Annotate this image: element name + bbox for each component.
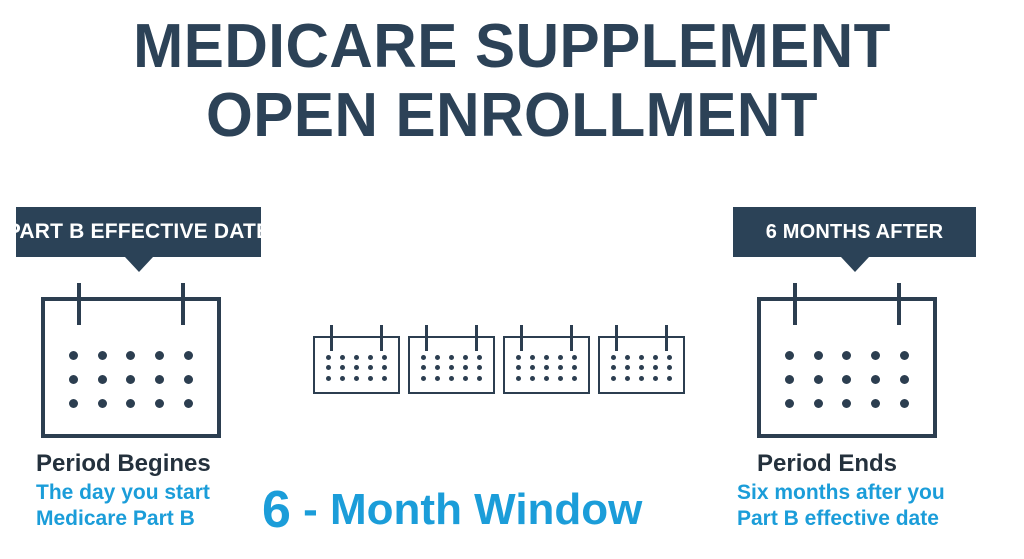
calendar-dot [126, 399, 135, 408]
calendar-dot [477, 355, 482, 360]
calendar-dot [382, 376, 387, 381]
calendar-dot [653, 365, 658, 370]
calendar-dot [639, 365, 644, 370]
banner-left-label: PART B EFFECTIVE DATE [7, 220, 271, 244]
calendar-dot [421, 376, 426, 381]
calendar-dot [340, 365, 345, 370]
calendar-ring-right-icon [897, 283, 901, 325]
calendar-dot [126, 351, 135, 360]
title-line-2: OPEN ENROLLMENT [15, 81, 1008, 150]
calendar-dot [340, 376, 345, 381]
caption-period-ends: Period Ends Six months after you Part B … [737, 450, 1024, 532]
calendar-dot [340, 355, 345, 360]
calendar-dot [516, 355, 521, 360]
calendar-dot [625, 365, 630, 370]
calendar-ring-left-icon [77, 283, 81, 325]
calendar-dot [572, 376, 577, 381]
calendar-icon-period-end [757, 297, 937, 438]
calendar-ring-right-icon [570, 325, 573, 351]
caption-left-heading: Period Begines [36, 450, 336, 478]
calendar-dot [900, 399, 909, 408]
calendar-dot [544, 355, 549, 360]
calendar-dot [368, 365, 373, 370]
banner-right-pointer-icon [841, 257, 869, 272]
calendar-dot [477, 365, 482, 370]
calendar-icon-month-3 [503, 336, 590, 394]
calendar-dot [155, 399, 164, 408]
calendar-dot [98, 375, 107, 384]
center-headline-six-month-window: 6 - Month Window [262, 484, 732, 536]
calendar-dot [842, 399, 851, 408]
calendar-dot [463, 355, 468, 360]
infographic-canvas: MEDICARE SUPPLEMENT OPEN ENROLLMENT PART… [0, 0, 1024, 559]
calendar-dot [368, 376, 373, 381]
calendar-dot [572, 355, 577, 360]
calendar-dot [69, 351, 78, 360]
calendar-dot [530, 376, 535, 381]
calendar-dot [477, 376, 482, 381]
calendar-dot [421, 365, 426, 370]
calendar-dot [558, 365, 563, 370]
calendar-ring-left-icon [793, 283, 797, 325]
calendar-dot [900, 351, 909, 360]
calendar-dot [611, 355, 616, 360]
calendar-dot [435, 376, 440, 381]
calendar-dot [871, 375, 880, 384]
calendar-dot [639, 376, 644, 381]
calendar-dot [667, 355, 672, 360]
calendar-dot [639, 355, 644, 360]
calendar-dot [653, 355, 658, 360]
page-title: MEDICARE SUPPLEMENT OPEN ENROLLMENT [0, 12, 1024, 150]
calendar-dot [871, 351, 880, 360]
calendar-dot [871, 399, 880, 408]
calendar-dot [625, 376, 630, 381]
calendar-dot [98, 351, 107, 360]
calendar-dot [900, 375, 909, 384]
calendar-dot [69, 375, 78, 384]
calendar-ring-right-icon [665, 325, 668, 351]
calendar-dot [184, 351, 193, 360]
calendar-dot [516, 365, 521, 370]
calendar-dot [544, 365, 549, 370]
calendar-ring-right-icon [380, 325, 383, 351]
calendar-dot [814, 351, 823, 360]
calendar-dot [814, 399, 823, 408]
calendar-dot [354, 355, 359, 360]
calendar-dot [558, 376, 563, 381]
calendar-ring-left-icon [520, 325, 523, 351]
calendar-dot [435, 355, 440, 360]
calendar-dot-grid [59, 343, 203, 416]
calendar-dot-grid [607, 352, 676, 384]
calendar-dot [785, 399, 794, 408]
calendar-dot [544, 376, 549, 381]
calendar-dot [667, 365, 672, 370]
calendar-dot [530, 365, 535, 370]
calendar-ring-right-icon [475, 325, 478, 351]
calendar-dot [842, 351, 851, 360]
calendar-dot-grid [417, 352, 486, 384]
caption-right-heading: Period Ends [737, 450, 1024, 478]
calendar-icon-period-start [41, 297, 221, 438]
calendar-dot [184, 399, 193, 408]
calendar-ring-right-icon [181, 283, 185, 325]
title-line-1: MEDICARE SUPPLEMENT [15, 12, 1008, 81]
calendar-dot [449, 355, 454, 360]
calendar-dot [326, 365, 331, 370]
center-headline-number: 6 [262, 481, 291, 539]
calendar-dot [69, 399, 78, 408]
calendar-dot [382, 365, 387, 370]
calendar-dot [155, 375, 164, 384]
banner-part-b-effective-date: PART B EFFECTIVE DATE [16, 207, 261, 257]
calendar-dot [449, 365, 454, 370]
calendar-ring-left-icon [330, 325, 333, 351]
caption-right-sub-line-2: Part B effective date [737, 506, 1024, 532]
calendar-dot [611, 376, 616, 381]
calendar-dot [354, 376, 359, 381]
center-headline-label: - Month Window [291, 485, 642, 534]
calendar-dot [516, 376, 521, 381]
calendar-dot [785, 351, 794, 360]
calendar-dot [326, 355, 331, 360]
calendar-dot-grid [512, 352, 581, 384]
calendar-dot [558, 355, 563, 360]
calendar-dot [326, 376, 331, 381]
calendar-dot [572, 365, 577, 370]
calendar-dot [435, 365, 440, 370]
banner-six-months-after: 6 MONTHS AFTER [733, 207, 976, 257]
calendar-dot [155, 351, 164, 360]
calendar-dot [625, 355, 630, 360]
calendar-dot [98, 399, 107, 408]
calendar-dot [814, 375, 823, 384]
calendar-dot [842, 375, 851, 384]
calendar-ring-left-icon [425, 325, 428, 351]
calendar-icon-month-4 [598, 336, 685, 394]
calendar-icon-month-1 [313, 336, 400, 394]
calendar-dot [421, 355, 426, 360]
caption-right-sub-line-1: Six months after you [737, 480, 1024, 506]
calendar-dot [449, 376, 454, 381]
calendar-dot [184, 375, 193, 384]
calendar-dot [354, 365, 359, 370]
calendar-dot [382, 355, 387, 360]
calendar-dot [667, 376, 672, 381]
calendar-dot [785, 375, 794, 384]
calendar-dot [368, 355, 373, 360]
calendar-dot [463, 376, 468, 381]
calendar-dot-grid [322, 352, 391, 384]
calendar-dot [530, 355, 535, 360]
calendar-dot [126, 375, 135, 384]
calendar-icon-month-2 [408, 336, 495, 394]
calendar-ring-left-icon [615, 325, 618, 351]
banner-right-label: 6 MONTHS AFTER [766, 221, 944, 244]
calendar-dot [463, 365, 468, 370]
banner-left-pointer-icon [125, 257, 153, 272]
calendar-dot-grid [775, 343, 919, 416]
calendar-dot [611, 365, 616, 370]
calendar-dot [653, 376, 658, 381]
